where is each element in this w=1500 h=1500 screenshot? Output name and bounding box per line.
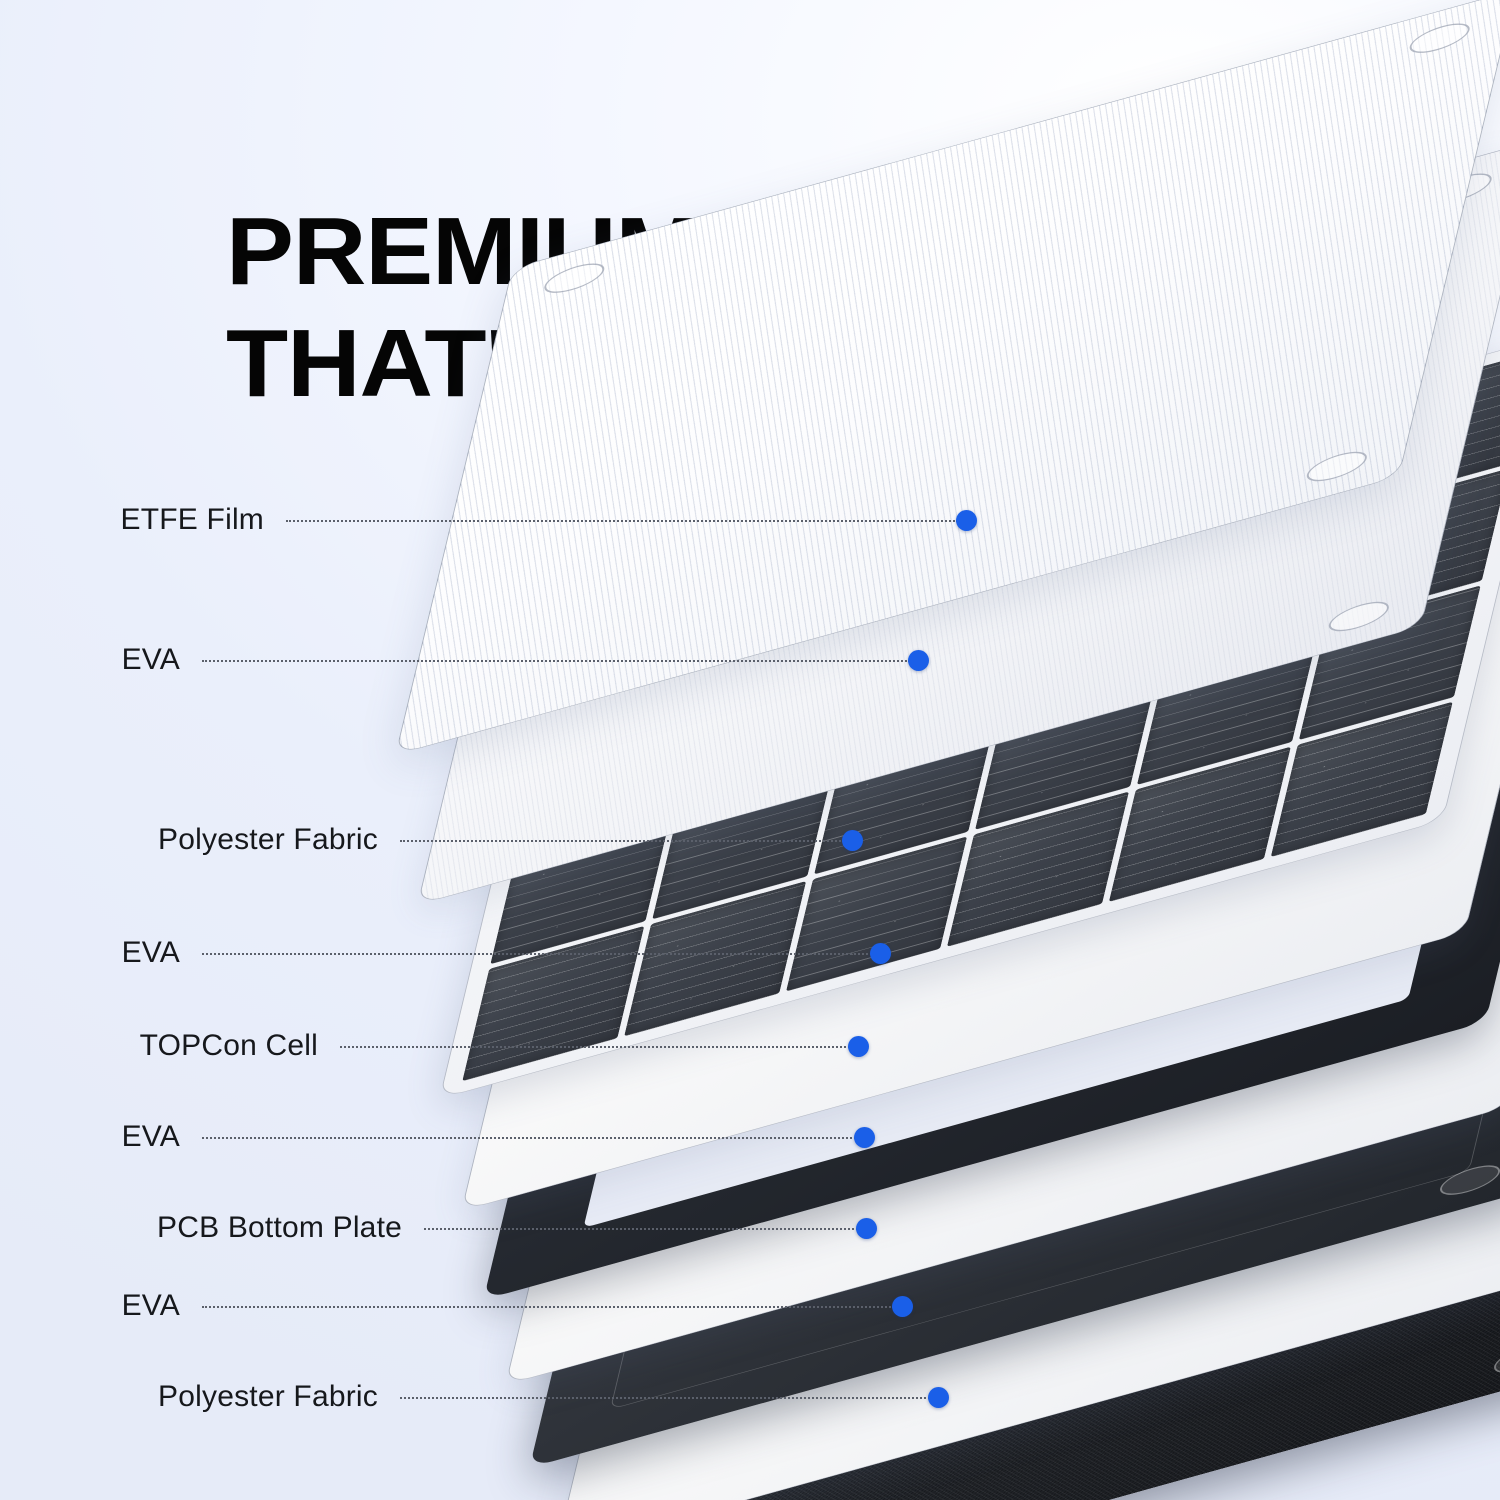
leader-line bbox=[202, 953, 872, 955]
leader-line bbox=[286, 520, 958, 522]
callout-dot bbox=[870, 943, 891, 964]
leader-line bbox=[202, 660, 910, 662]
leader-line bbox=[202, 1137, 856, 1139]
callout-dot bbox=[892, 1296, 913, 1317]
leader-line bbox=[400, 1397, 930, 1399]
mount-hole bbox=[542, 258, 608, 299]
mount-hole bbox=[1304, 446, 1370, 487]
callout-label: EVA bbox=[122, 1289, 202, 1323]
callout-label: PCB Bottom Plate bbox=[157, 1211, 424, 1245]
leader-line bbox=[202, 1306, 894, 1308]
callout-label: ETFE Film bbox=[121, 503, 286, 537]
callout-dot bbox=[842, 830, 863, 851]
exploded-layer-stack bbox=[0, 0, 1500, 1500]
mount-hole bbox=[1326, 596, 1392, 637]
leader-line bbox=[400, 840, 844, 842]
infographic-canvas: PREMIUM QUALITY THAT'S BUILT TO LAST bbox=[0, 0, 1500, 1500]
callout-label: Polyester Fabric bbox=[158, 1380, 400, 1414]
callout-label: TOPCon Cell bbox=[140, 1029, 340, 1063]
callout-label: EVA bbox=[122, 1120, 202, 1154]
mount-hole bbox=[1491, 1338, 1500, 1379]
mount-hole bbox=[1407, 18, 1473, 59]
callout-dot bbox=[928, 1387, 949, 1408]
callout-dot bbox=[854, 1127, 875, 1148]
leader-line bbox=[340, 1046, 850, 1048]
mount-hole bbox=[1437, 1160, 1500, 1201]
callout-dot bbox=[848, 1036, 869, 1057]
callout-dot bbox=[908, 650, 929, 671]
callout-dot bbox=[856, 1218, 877, 1239]
leader-line bbox=[424, 1228, 858, 1230]
callout-label: EVA bbox=[122, 643, 202, 677]
callout-label: EVA bbox=[122, 936, 202, 970]
callout-dot bbox=[956, 510, 977, 531]
callout-label: Polyester Fabric bbox=[158, 823, 400, 857]
